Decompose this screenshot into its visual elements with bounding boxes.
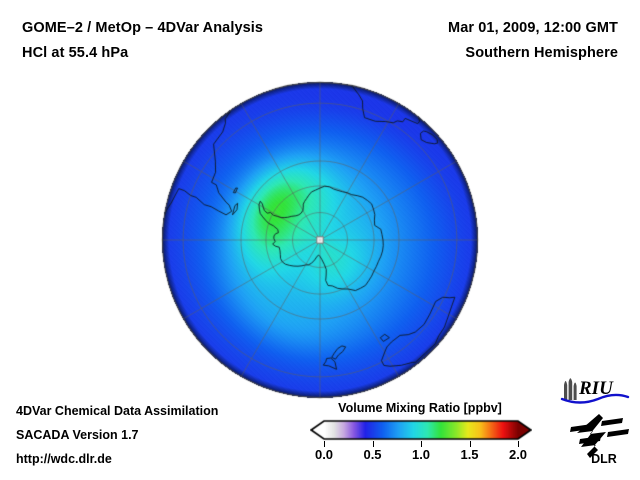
- colorbar: [310, 418, 532, 442]
- timestamp-label: Mar 01, 2009, 12:00 GMT: [448, 20, 618, 36]
- colorbar-tick-label: 0.5: [363, 447, 381, 462]
- region-label: Southern Hemisphere: [465, 45, 618, 61]
- colorbar-title: Volume Mixing Ratio [ppbv]: [312, 401, 528, 415]
- colorbar-gradient: [310, 418, 532, 442]
- colorbar-tick-label: 1.0: [412, 447, 430, 462]
- dlr-logo: DLR: [568, 412, 632, 466]
- colorbar-tick-labels: 0.00.51.01.52.0: [290, 447, 552, 465]
- footer-line-url[interactable]: http://wdc.dlr.de: [16, 452, 112, 466]
- colorbar-tick-label: 1.5: [460, 447, 478, 462]
- globe-map: [160, 80, 480, 400]
- riu-spires-icon: [564, 378, 577, 400]
- riu-logo: RIU: [558, 374, 630, 404]
- footer-line-version: SACADA Version 1.7: [16, 428, 139, 442]
- colorbar-tick-label: 0.0: [315, 447, 333, 462]
- page-title-species: HCl at 55.4 hPa: [22, 45, 128, 61]
- colorbar-tick-label: 2.0: [509, 447, 527, 462]
- dlr-logo-text: DLR: [591, 452, 617, 466]
- page-title-instrument: GOME–2 / MetOp – 4DVar Analysis: [22, 20, 263, 36]
- footer-line-assimilation: 4DVar Chemical Data Assimilation: [16, 404, 218, 418]
